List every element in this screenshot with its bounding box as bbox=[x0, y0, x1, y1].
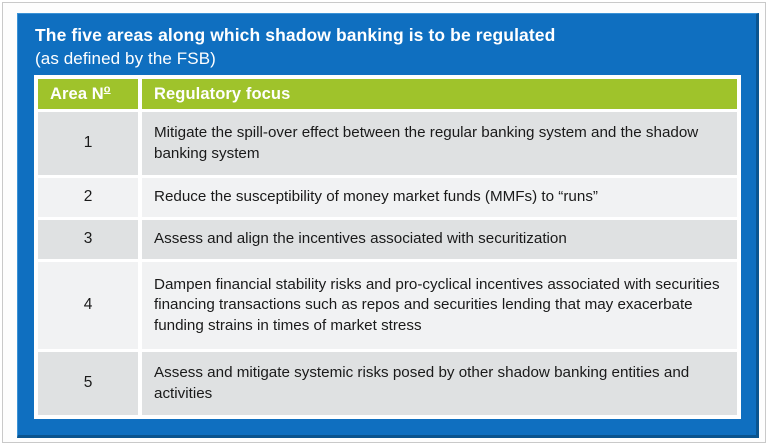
table-row: 5 Assess and mitigate systemic risks pos… bbox=[38, 352, 737, 415]
table-body: 1 Mitigate the spill-over effect between… bbox=[38, 112, 737, 415]
regulatory-focus-cell: Reduce the susceptibility of money marke… bbox=[142, 178, 737, 220]
column-header-area-label: Area N bbox=[50, 85, 104, 103]
area-number-cell: 1 bbox=[38, 112, 142, 178]
table-row: 1 Mitigate the spill-over effect between… bbox=[38, 112, 737, 178]
blue-panel: The five areas along which shadow bankin… bbox=[17, 13, 759, 438]
panel-title-block: The five areas along which shadow bankin… bbox=[35, 24, 735, 71]
regulatory-focus-cell: Dampen financial stability risks and pro… bbox=[142, 262, 737, 352]
page-subtitle: (as defined by the FSB) bbox=[35, 47, 735, 71]
area-number-cell: 2 bbox=[38, 178, 142, 220]
table-row: 2 Reduce the susceptibility of money mar… bbox=[38, 178, 737, 220]
area-number-cell: 5 bbox=[38, 352, 142, 415]
table-header: Area No Regulatory focus bbox=[38, 79, 737, 112]
areas-table: Area No Regulatory focus 1 Mitigate the … bbox=[38, 79, 737, 415]
column-header-area-number: Area No bbox=[38, 79, 142, 112]
table-row: 4 Dampen financial stability risks and p… bbox=[38, 262, 737, 352]
table-container: Area No Regulatory focus 1 Mitigate the … bbox=[34, 75, 741, 419]
column-header-regulatory-focus: Regulatory focus bbox=[142, 79, 737, 112]
table-row: 3 Assess and align the incentives associ… bbox=[38, 220, 737, 262]
outer-frame: The five areas along which shadow bankin… bbox=[2, 2, 766, 443]
area-number-cell: 4 bbox=[38, 262, 142, 352]
area-number-cell: 3 bbox=[38, 220, 142, 262]
table-header-row: Area No Regulatory focus bbox=[38, 79, 737, 112]
ordinal-indicator: o bbox=[104, 83, 111, 95]
page-title: The five areas along which shadow bankin… bbox=[35, 24, 735, 47]
regulatory-focus-cell: Assess and align the incentives associat… bbox=[142, 220, 737, 262]
regulatory-focus-cell: Mitigate the spill-over effect between t… bbox=[142, 112, 737, 178]
regulatory-focus-cell: Assess and mitigate systemic risks posed… bbox=[142, 352, 737, 415]
